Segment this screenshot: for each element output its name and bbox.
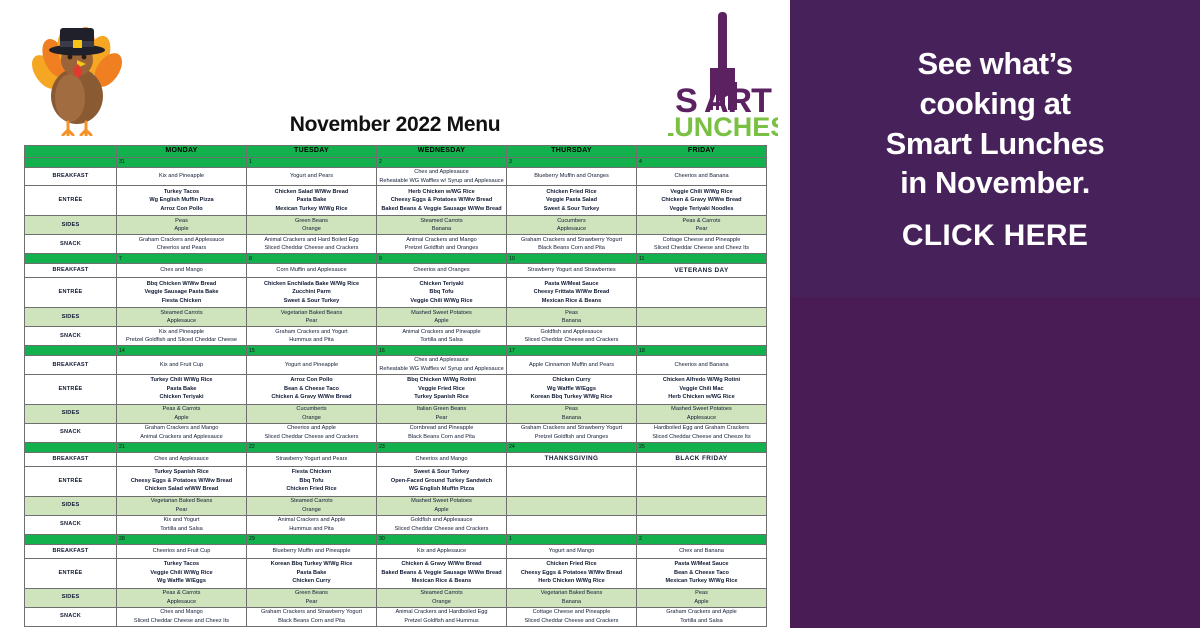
row-label-sides: SIDES bbox=[25, 588, 117, 607]
menu-cell-snack-w1-d5: Cottage Cheese and PineappleSliced Chedd… bbox=[637, 235, 767, 254]
menu-item: Peas & Carrots bbox=[637, 217, 766, 226]
menu-item: Steamed Carrots bbox=[117, 309, 246, 318]
menu-item: Graham Crackers and Strawberry Yogurt bbox=[247, 608, 376, 617]
menu-item: Bean & Cheese Taco bbox=[247, 385, 376, 394]
menu-item: Banana bbox=[507, 414, 636, 423]
menu-cell-sides-w2-d5 bbox=[637, 308, 767, 327]
menu-item: Chex and Banana bbox=[637, 547, 766, 556]
menu-cell-breakfast-w2-d3: Cheerios and Oranges bbox=[377, 264, 507, 278]
menu-item: Blueberry Muffin and Pineapple bbox=[247, 547, 376, 556]
menu-cell-snack-w5-d5: Graham Crackers and AppleTortilla and Sa… bbox=[637, 607, 767, 626]
menu-cell-snack-w2-d5 bbox=[637, 327, 767, 346]
menu-item: Chicken & Gravy W/Ww Bread bbox=[377, 560, 506, 569]
menu-cell-breakfast-w2-d5: VETERANS DAY bbox=[637, 264, 767, 278]
menu-item: Mexican Turkey W/Wg Rice bbox=[637, 577, 766, 586]
menu-item: Blueberry Muffin and Oranges bbox=[507, 172, 636, 181]
menu-item: Apple bbox=[117, 225, 246, 234]
menu-cell-sides-w5-d4: Vegetarian Baked BeansBanana bbox=[507, 588, 637, 607]
menu-item: Mexican Turkey W/Wg Rice bbox=[247, 205, 376, 214]
menu-cell-sides-w1-d5: Peas & CarrotsPear bbox=[637, 216, 767, 235]
menu-cell-entree-w4-d4 bbox=[507, 466, 637, 496]
menu-cell-entree-w2-d2: Chicken Enchilada Bake W/Wg RiceZucchini… bbox=[247, 278, 377, 308]
menu-cell-sides-w5-d2: Green BeansPear bbox=[247, 588, 377, 607]
menu-cell-breakfast-w5-d1: Cheerios and Fruit Cup bbox=[117, 544, 247, 558]
menu-item: Mashed Sweet Potatoes bbox=[377, 497, 506, 506]
menu-pane: S ART LUNCHES November 2022 Menu MONDAYT… bbox=[0, 0, 790, 628]
menu-item: Veggie Chili W/Wg Rice bbox=[377, 297, 506, 306]
menu-row-breakfast: BREAKFASTKix and Fruit CupYogurt and Pin… bbox=[25, 356, 767, 374]
menu-row-entree: ENTRÉETurkey TacosWg English Muffin Pizz… bbox=[25, 186, 767, 216]
menu-item: Banana bbox=[507, 598, 636, 607]
menu-item: Kix and Pineapple bbox=[117, 172, 246, 181]
day-header-thursday: THURSDAY bbox=[507, 146, 637, 158]
menu-item: Chicken Fried Rice bbox=[247, 485, 376, 494]
menu-item: Graham Crackers and Applesauce bbox=[117, 236, 246, 245]
menu-item: Orange bbox=[247, 225, 376, 234]
menu-row-breakfast: BREAKFASTChex and MangoCorn Muffin and A… bbox=[25, 264, 767, 278]
menu-cell-sides-w4-d4 bbox=[507, 496, 637, 515]
menu-item: Chex and Applesauce bbox=[377, 356, 506, 365]
menu-item: Veggie Fried Rice bbox=[377, 385, 506, 394]
date-cell-23: 23 bbox=[377, 442, 507, 452]
row-label-snack: SNACK bbox=[25, 327, 117, 346]
row-label-sides: SIDES bbox=[25, 216, 117, 235]
menu-cell-entree-w5-d1: Turkey TacosVeggie Chili W/Wg RiceWg Waf… bbox=[117, 558, 247, 588]
menu-item: Cornbread and Pineapple bbox=[377, 424, 506, 433]
menu-item: Pasta Bake bbox=[117, 385, 246, 394]
menu-cell-sides-w3-d4: PeasBanana bbox=[507, 404, 637, 423]
menu-cell-sides-w1-d1: PeasApple bbox=[117, 216, 247, 235]
menu-cell-breakfast-w3-d3: Chex and ApplesauceReheatable WG Waffles… bbox=[377, 356, 507, 374]
menu-cell-snack-w5-d4: Cottage Cheese and PineappleSliced Chedd… bbox=[507, 607, 637, 626]
menu-item: Chicken Fried Rice bbox=[507, 560, 636, 569]
date-cell-1: 1 bbox=[507, 534, 637, 544]
promo-headline-line-1: See what’s bbox=[886, 44, 1105, 84]
menu-cell-entree-w3-d4: Chicken CurryWg Waffle W/EggsKorean Bbq … bbox=[507, 374, 637, 404]
menu-cell-snack-w1-d2: Animal Crackers and Hard Boiled EggSlice… bbox=[247, 235, 377, 254]
menu-item: Hummus and Pita bbox=[247, 525, 376, 534]
menu-cell-breakfast-w4-d4: THANKSGIVING bbox=[507, 452, 637, 466]
promo-headline-line-3: Smart Lunches bbox=[886, 124, 1105, 164]
header-corner-cell bbox=[25, 146, 117, 158]
menu-cell-entree-w1-d1: Turkey TacosWg English Muffin PizzaArroz… bbox=[117, 186, 247, 216]
menu-item: Green Beans bbox=[247, 217, 376, 226]
menu-item: Green Beans bbox=[247, 589, 376, 598]
menu-item: Turkey Spanish Rice bbox=[117, 468, 246, 477]
menu-item: Apple bbox=[377, 317, 506, 326]
menu-cell-breakfast-w4-d2: Strawberry Yogurt and Pears bbox=[247, 452, 377, 466]
menu-item: Arroz Con Pollo bbox=[117, 205, 246, 214]
menu-cell-sides-w5-d5: PeasApple bbox=[637, 588, 767, 607]
menu-item: Baked Beans & Veggie Sausage W/Ww Bread bbox=[377, 205, 506, 214]
menu-cell-breakfast-w5-d2: Blueberry Muffin and Pineapple bbox=[247, 544, 377, 558]
menu-item: Apple Cinnamon Muffin and Pears bbox=[507, 361, 636, 370]
row-label-entree: ENTRÉE bbox=[25, 278, 117, 308]
menu-item: Applesauce bbox=[117, 317, 246, 326]
menu-item: Pasta Bake bbox=[247, 569, 376, 578]
menu-cell-entree-w4-d3: Sweet & Sour TurkeyOpen-Faced Ground Tur… bbox=[377, 466, 507, 496]
menu-item: Veggie Chili Mac bbox=[637, 385, 766, 394]
menu-cell-entree-w3-d3: Bbq Chicken W/Wg RotiniVeggie Fried Rice… bbox=[377, 374, 507, 404]
date-cell-2: 2 bbox=[377, 158, 507, 168]
menu-cell-snack-w4-d2: Animal Crackers and AppleHummus and Pita bbox=[247, 515, 377, 534]
menu-cell-snack-w1-d1: Graham Crackers and ApplesauceCheerios a… bbox=[117, 235, 247, 254]
row-label-sides: SIDES bbox=[25, 404, 117, 423]
ad-banner: S ART LUNCHES November 2022 Menu MONDAYT… bbox=[0, 0, 1200, 628]
menu-cell-breakfast-w2-d2: Corn Muffin and Applesauce bbox=[247, 264, 377, 278]
menu-item: Pear bbox=[247, 598, 376, 607]
menu-item: Turkey Spanish Rice bbox=[377, 393, 506, 402]
promo-headline-line-2: cooking at bbox=[886, 84, 1105, 124]
menu-item: Orange bbox=[247, 506, 376, 515]
menu-item: Strawberry Yogurt and Strawberries bbox=[507, 266, 636, 275]
date-row-label-cell bbox=[25, 254, 117, 264]
menu-item: Mexican Rice & Beans bbox=[507, 297, 636, 306]
menu-item: Sweet & Sour Turkey bbox=[377, 468, 506, 477]
menu-cell-snack-w2-d3: Animal Crackers and PineappleTortilla an… bbox=[377, 327, 507, 346]
menu-item: Turkey Tacos bbox=[117, 560, 246, 569]
date-row-label-cell bbox=[25, 158, 117, 168]
menu-item: Kix and Yogurt bbox=[117, 516, 246, 525]
menu-item: Korean Bbq Turkey W/Wg Rice bbox=[247, 560, 376, 569]
menu-item: Cheerios and Oranges bbox=[377, 266, 506, 275]
row-label-entree: ENTRÉE bbox=[25, 558, 117, 588]
menu-row-snack: SNACKChex and MangoSliced Cheddar Cheese… bbox=[25, 607, 767, 626]
menu-item: Chex and Mango bbox=[117, 266, 246, 275]
menu-item: Banana bbox=[377, 225, 506, 234]
menu-item: Chicken Salad w/WW Bread bbox=[117, 485, 246, 494]
menu-item: Pear bbox=[117, 506, 246, 515]
menu-item: Vegetarian Baked Beans bbox=[507, 589, 636, 598]
menu-item: Turkey Chili W/Wg Rice bbox=[117, 376, 246, 385]
menu-row-entree: ENTRÉEBbq Chicken W/Ww BreadVeggie Sausa… bbox=[25, 278, 767, 308]
menu-cell-snack-w2-d4: Goldfish and ApplesauceSliced Cheddar Ch… bbox=[507, 327, 637, 346]
menu-item: Graham Crackers and Yogurt bbox=[247, 328, 376, 337]
menu-item: Sliced Cheddar Cheese and Crackers bbox=[247, 433, 376, 442]
menu-item: Pasta Bake bbox=[247, 196, 376, 205]
menu-cell-breakfast-w3-d2: Yogurt and Pineapple bbox=[247, 356, 377, 374]
menu-item: Peas & Carrots bbox=[117, 589, 246, 598]
menu-cell-entree-w2-d5 bbox=[637, 278, 767, 308]
menu-item: Cheerios and Pears bbox=[117, 244, 246, 253]
row-label-entree: ENTRÉE bbox=[25, 374, 117, 404]
menu-row-snack: SNACKGraham Crackers and MangoAnimal Cra… bbox=[25, 423, 767, 442]
date-cell-31: 31 bbox=[117, 158, 247, 168]
date-cell-25: 25 bbox=[637, 442, 767, 452]
menu-item: Fiesta Chicken bbox=[117, 297, 246, 306]
menu-cell-entree-w1-d5: Veggie Chili W/Wg RiceChicken & Gravy W/… bbox=[637, 186, 767, 216]
menu-cell-sides-w1-d2: Green BeansOrange bbox=[247, 216, 377, 235]
menu-cell-sides-w4-d2: Steamed CarrotsOrange bbox=[247, 496, 377, 515]
menu-item: Strawberry Yogurt and Pears bbox=[247, 455, 376, 464]
menu-cell-entree-w2-d4: Pasta W/Meat SauceCheesy Frittata W/Ww B… bbox=[507, 278, 637, 308]
menu-cell-sides-w2-d3: Mashed Sweet PotatoesApple bbox=[377, 308, 507, 327]
menu-item: Cottage Cheese and Pineapple bbox=[507, 608, 636, 617]
menu-item: Graham Crackers and Strawberry Yogurt bbox=[507, 424, 636, 433]
menu-cell-entree-w1-d2: Chicken Salad W/Ww BreadPasta BakeMexica… bbox=[247, 186, 377, 216]
menu-item: Chicken Enchilada Bake W/Wg Rice bbox=[247, 280, 376, 289]
menu-cell-sides-w1-d3: Steamed CarrotsBanana bbox=[377, 216, 507, 235]
menu-item: Black Beans Corn and Pita bbox=[507, 244, 636, 253]
menu-item: Cheerios and Banana bbox=[637, 361, 766, 370]
menu-item: Herb Chicken w/WG Rice bbox=[637, 393, 766, 402]
menu-cell-snack-w4-d4 bbox=[507, 515, 637, 534]
page-title: November 2022 Menu bbox=[0, 113, 790, 137]
menu-item: Pasta W/Meat Sauce bbox=[507, 280, 636, 289]
menu-cell-breakfast-w1-d3: Chex and ApplesauceReheatable WG Waffles… bbox=[377, 168, 507, 186]
menu-row-breakfast: BREAKFASTKix and PineappleYogurt and Pea… bbox=[25, 168, 767, 186]
row-label-sides: SIDES bbox=[25, 496, 117, 515]
menu-item: Cheesy Frittata W/Ww Bread bbox=[507, 288, 636, 297]
menu-cell-breakfast-w5-d3: Kix and Applesauce bbox=[377, 544, 507, 558]
menu-item: Cheerios and Apple bbox=[247, 424, 376, 433]
menu-item: Graham Crackers and Strawberry Yogurt bbox=[507, 236, 636, 245]
menu-item: Wg Waffle W/Eggs bbox=[117, 577, 246, 586]
menu-item: Veggie Pasta Salad bbox=[507, 196, 636, 205]
promo-pane[interactable]: See what’scooking atSmart Lunchesin Nove… bbox=[790, 0, 1200, 628]
menu-item: Cottage Cheese and Pineapple bbox=[637, 236, 766, 245]
menu-cell-breakfast-w4-d3: Cheerios and Mango bbox=[377, 452, 507, 466]
menu-item: Apple bbox=[117, 414, 246, 423]
menu-cell-entree-w2-d1: Bbq Chicken W/Ww BreadVeggie Sausage Pas… bbox=[117, 278, 247, 308]
date-row-label-cell bbox=[25, 346, 117, 356]
menu-cell-sides-w3-d3: Italian Green BeansPear bbox=[377, 404, 507, 423]
menu-item: Herb Chicken W/Wg Rice bbox=[507, 577, 636, 586]
menu-item: Chicken Fried Rice bbox=[507, 188, 636, 197]
menu-item: Kix and Fruit Cup bbox=[117, 361, 246, 370]
promo-text-block: See what’scooking atSmart Lunchesin Nove… bbox=[790, 0, 1200, 297]
menu-cell-entree-w5-d3: Chicken & Gravy W/Ww BreadBaked Beans & … bbox=[377, 558, 507, 588]
date-cell-9: 9 bbox=[377, 254, 507, 264]
menu-item: Steamed Carrots bbox=[247, 497, 376, 506]
menu-cell-snack-w5-d2: Graham Crackers and Strawberry YogurtBla… bbox=[247, 607, 377, 626]
menu-item: Yogurt and Pears bbox=[247, 172, 376, 181]
menu-cell-entree-w5-d4: Chicken Fried RiceCheesy Eggs & Potatoes… bbox=[507, 558, 637, 588]
menu-item: Peas & Carrots bbox=[117, 405, 246, 414]
menu-item: Sliced Cheddar Cheese and Crackers bbox=[247, 244, 376, 253]
holiday-label: THANKSGIVING bbox=[545, 455, 599, 462]
date-cell-4: 4 bbox=[637, 158, 767, 168]
menu-item: Peas bbox=[507, 405, 636, 414]
menu-cell-entree-w2-d3: Chicken TeriyakiBbq TofuVeggie Chili W/W… bbox=[377, 278, 507, 308]
menu-cell-breakfast-w5-d4: Yogurt and Mango bbox=[507, 544, 637, 558]
menu-cell-breakfast-w4-d1: Chex and Applesauce bbox=[117, 452, 247, 466]
menu-cell-breakfast-w1-d4: Blueberry Muffin and Oranges bbox=[507, 168, 637, 186]
menu-item: Applesauce bbox=[117, 598, 246, 607]
promo-headline-line-4: in November. bbox=[886, 163, 1105, 203]
menu-item: Kix and Pineapple bbox=[117, 328, 246, 337]
menu-item: Goldfish and Applesauce bbox=[377, 516, 506, 525]
row-label-snack: SNACK bbox=[25, 423, 117, 442]
date-cell-22: 22 bbox=[247, 442, 377, 452]
date-cell-11: 11 bbox=[637, 254, 767, 264]
menu-item: Chicken & Gravy W/Ww Bread bbox=[247, 393, 376, 402]
day-header-monday: MONDAY bbox=[117, 146, 247, 158]
menu-cell-snack-w1-d4: Graham Crackers and Strawberry YogurtBla… bbox=[507, 235, 637, 254]
menu-item: Applesauce bbox=[637, 414, 766, 423]
menu-item: Corn Muffin and Applesauce bbox=[247, 266, 376, 275]
menu-cell-breakfast-w3-d4: Apple Cinnamon Muffin and Pears bbox=[507, 356, 637, 374]
menu-item: Steamed Carrots bbox=[377, 589, 506, 598]
menu-item: Yogurt and Mango bbox=[507, 547, 636, 556]
menu-item: Cheesy Eggs & Potatoes W/Ww Bread bbox=[507, 569, 636, 578]
menu-item: Reheatable WG Waffles w/ Syrup and Apple… bbox=[377, 365, 506, 374]
menu-item: Pretzel Goldfish and Hummus bbox=[377, 617, 506, 626]
menu-cell-sides-w3-d1: Peas & CarrotsApple bbox=[117, 404, 247, 423]
holiday-label: VETERANS DAY bbox=[674, 267, 728, 274]
menu-item: Chicken Salad W/Ww Bread bbox=[247, 188, 376, 197]
promo-headline: See what’scooking atSmart Lunchesin Nove… bbox=[886, 44, 1105, 203]
menu-item: Pear bbox=[637, 225, 766, 234]
menu-item: Animal Crackers and Applesauce bbox=[117, 433, 246, 442]
menu-item: Pasta W/Meat Sauce bbox=[637, 560, 766, 569]
menu-cell-entree-w3-d2: Arroz Con PolloBean & Cheese TacoChicken… bbox=[247, 374, 377, 404]
menu-item: Sliced Cheddar Cheese and Crackers bbox=[507, 336, 636, 345]
menu-item: Reheatable WG Waffles w/ Syrup and Apple… bbox=[377, 177, 506, 186]
menu-item: Cheesy Eggs & Potatoes W/Ww Bread bbox=[117, 477, 246, 486]
calendar-header-row: MONDAYTUESDAYWEDNESDAYTHURSDAYFRIDAY bbox=[25, 146, 767, 158]
menu-item: Goldfish and Applesauce bbox=[507, 328, 636, 337]
date-cell-8: 8 bbox=[247, 254, 377, 264]
date-cell-7: 7 bbox=[117, 254, 247, 264]
menu-item: Hummus and Pita bbox=[247, 336, 376, 345]
menu-item: Veggie Chili W/Wg Rice bbox=[117, 569, 246, 578]
menu-row-entree: ENTRÉETurkey Chili W/Wg RicePasta BakeCh… bbox=[25, 374, 767, 404]
menu-row-snack: SNACKKix and YogurtTortilla and SalsaAni… bbox=[25, 515, 767, 534]
menu-item: Sliced Cheddar Cheese and Cheeze Its bbox=[637, 433, 766, 442]
menu-row-sides: SIDESPeas & CarrotsApplesauceGreen Beans… bbox=[25, 588, 767, 607]
menu-cell-entree-w3-d1: Turkey Chili W/Wg RicePasta BakeChicken … bbox=[117, 374, 247, 404]
menu-item: Bbq Chicken W/Ww Bread bbox=[117, 280, 246, 289]
menu-item: Animal Crackers and Pineapple bbox=[377, 328, 506, 337]
menu-cell-snack-w3-d2: Cheerios and AppleSliced Cheddar Cheese … bbox=[247, 423, 377, 442]
menu-item: Steamed Carrots bbox=[377, 217, 506, 226]
menu-item: Peas bbox=[507, 309, 636, 318]
menu-cell-sides-w2-d1: Steamed CarrotsApplesauce bbox=[117, 308, 247, 327]
menu-row-snack: SNACKGraham Crackers and ApplesauceCheer… bbox=[25, 235, 767, 254]
menu-cell-entree-w1-d4: Chicken Fried RiceVeggie Pasta SaladSwee… bbox=[507, 186, 637, 216]
menu-cell-sides-w3-d5: Mashed Sweet PotatoesApplesauce bbox=[637, 404, 767, 423]
menu-row-entree: ENTRÉETurkey TacosVeggie Chili W/Wg Rice… bbox=[25, 558, 767, 588]
menu-cell-breakfast-w3-d1: Kix and Fruit Cup bbox=[117, 356, 247, 374]
menu-item: Chex and Mango bbox=[117, 608, 246, 617]
menu-item: Banana bbox=[507, 317, 636, 326]
menu-item: Korean Bbq Turkey W/Wg Rice bbox=[507, 393, 636, 402]
menu-item: Apple bbox=[637, 598, 766, 607]
click-here-button[interactable]: CLICK HERE bbox=[902, 219, 1088, 253]
date-cell-17: 17 bbox=[507, 346, 637, 356]
row-label-breakfast: BREAKFAST bbox=[25, 356, 117, 374]
menu-item: Pear bbox=[247, 317, 376, 326]
menu-cell-snack-w4-d5 bbox=[637, 515, 767, 534]
menu-item: Sliced Cheddar Cheese and Crackers bbox=[507, 617, 636, 626]
menu-cell-snack-w4-d3: Goldfish and ApplesauceSliced Cheddar Ch… bbox=[377, 515, 507, 534]
menu-item: Vegetarian Baked Beans bbox=[247, 309, 376, 318]
menu-item: Applesauce bbox=[507, 225, 636, 234]
menu-item: Bbq Chicken W/Wg Rotini bbox=[377, 376, 506, 385]
menu-item: Cucumberts bbox=[247, 405, 376, 414]
menu-item: Yogurt and Pineapple bbox=[247, 361, 376, 370]
menu-cell-breakfast-w1-d5: Cheerios and Banana bbox=[637, 168, 767, 186]
menu-cell-sides-w2-d2: Vegetarian Baked BeansPear bbox=[247, 308, 377, 327]
menu-cell-breakfast-w2-d1: Chex and Mango bbox=[117, 264, 247, 278]
menu-cell-entree-w4-d1: Turkey Spanish RiceCheesy Eggs & Potatoe… bbox=[117, 466, 247, 496]
menu-cell-entree-w3-d5: Chicken Alfredo W/Wg RotiniVeggie Chili … bbox=[637, 374, 767, 404]
menu-cell-snack-w3-d1: Graham Crackers and MangoAnimal Crackers… bbox=[117, 423, 247, 442]
menu-item: Veggie Teriyaki Noodles bbox=[637, 205, 766, 214]
day-header-tuesday: TUESDAY bbox=[247, 146, 377, 158]
date-row-label-cell bbox=[25, 534, 117, 544]
menu-item: Mexican Rice & Beans bbox=[377, 577, 506, 586]
date-cell-3: 3 bbox=[507, 158, 637, 168]
menu-item: Open-Faced Ground Turkey Sandwich bbox=[377, 477, 506, 486]
row-label-snack: SNACK bbox=[25, 607, 117, 626]
menu-item: Vegetarian Baked Beans bbox=[117, 497, 246, 506]
date-cell-24: 24 bbox=[507, 442, 637, 452]
menu-item: Pretzel Goldfish and Sliced Cheddar Chee… bbox=[117, 336, 246, 345]
menu-item: Chicken Alfredo W/Wg Rotini bbox=[637, 376, 766, 385]
date-cell-2: 2 bbox=[637, 534, 767, 544]
row-label-entree: ENTRÉE bbox=[25, 466, 117, 496]
menu-item: Pear bbox=[377, 414, 506, 423]
date-cell-10: 10 bbox=[507, 254, 637, 264]
menu-item: Hardboiled Egg and Graham Crackers bbox=[637, 424, 766, 433]
menu-row-breakfast: BREAKFASTChex and ApplesauceStrawberry Y… bbox=[25, 452, 767, 466]
menu-cell-sides-w1-d4: CucumbersApplesauce bbox=[507, 216, 637, 235]
menu-item: Cheesy Eggs & Potatoes W/Ww Bread bbox=[377, 196, 506, 205]
calendar-date-row: 1415161718 bbox=[25, 346, 767, 356]
menu-row-sides: SIDESPeasAppleGreen BeansOrangeSteamed C… bbox=[25, 216, 767, 235]
menu-cell-entree-w1-d3: Herb Chicken w/WG RiceCheesy Eggs & Pota… bbox=[377, 186, 507, 216]
menu-item: Chicken & Gravy W/Ww Bread bbox=[637, 196, 766, 205]
date-cell-18: 18 bbox=[637, 346, 767, 356]
menu-cell-breakfast-w4-d5: BLACK FRIDAY bbox=[637, 452, 767, 466]
menu-cell-entree-w5-d2: Korean Bbq Turkey W/Wg RicePasta BakeChi… bbox=[247, 558, 377, 588]
date-cell-29: 29 bbox=[247, 534, 377, 544]
menu-cell-breakfast-w5-d5: Chex and Banana bbox=[637, 544, 767, 558]
menu-item: Bean & Cheese Taco bbox=[637, 569, 766, 578]
menu-item: Pretzel Goldfish and Oranges bbox=[377, 244, 506, 253]
menu-item: Chicken Curry bbox=[507, 376, 636, 385]
menu-item: Tortilla and Salsa bbox=[637, 617, 766, 626]
menu-cell-snack-w2-d1: Kix and PineapplePretzel Goldfish and Sl… bbox=[117, 327, 247, 346]
menu-item: Black Beans Corn and Pita bbox=[247, 617, 376, 626]
menu-item: Black Beans Corn and Pita bbox=[377, 433, 506, 442]
menu-cell-sides-w2-d4: PeasBanana bbox=[507, 308, 637, 327]
menu-item: Cheerios and Banana bbox=[637, 172, 766, 181]
date-cell-1: 1 bbox=[247, 158, 377, 168]
menu-item: Tortilla and Salsa bbox=[377, 336, 506, 345]
menu-cell-snack-w3-d5: Hardboiled Egg and Graham CrackersSliced… bbox=[637, 423, 767, 442]
menu-item: Veggie Sausage Pasta Bake bbox=[117, 288, 246, 297]
menu-cell-sides-w3-d2: CucumbertsOrange bbox=[247, 404, 377, 423]
menu-row-sides: SIDESSteamed CarrotsApplesauceVegetarian… bbox=[25, 308, 767, 327]
menu-item: WG English Muffin Pizza bbox=[377, 485, 506, 494]
menu-item: Chex and Applesauce bbox=[117, 455, 246, 464]
menu-item: Zucchini Parm bbox=[247, 288, 376, 297]
menu-cell-entree-w4-d2: Fiesta ChickenBbq TofuChicken Fried Rice bbox=[247, 466, 377, 496]
menu-row-sides: SIDESVegetarian Baked BeansPearSteamed C… bbox=[25, 496, 767, 515]
menu-row-snack: SNACKKix and PineapplePretzel Goldfish a… bbox=[25, 327, 767, 346]
menu-item: Animal Crackers and Hard Boiled Egg bbox=[247, 236, 376, 245]
menu-item: Wg Waffle W/Eggs bbox=[507, 385, 636, 394]
row-label-breakfast: BREAKFAST bbox=[25, 452, 117, 466]
menu-row-sides: SIDESPeas & CarrotsAppleCucumbertsOrange… bbox=[25, 404, 767, 423]
menu-item: Chicken Teriyaki bbox=[377, 280, 506, 289]
menu-item: Cheerios and Mango bbox=[377, 455, 506, 464]
row-label-snack: SNACK bbox=[25, 235, 117, 254]
menu-item: Arroz Con Pollo bbox=[247, 376, 376, 385]
